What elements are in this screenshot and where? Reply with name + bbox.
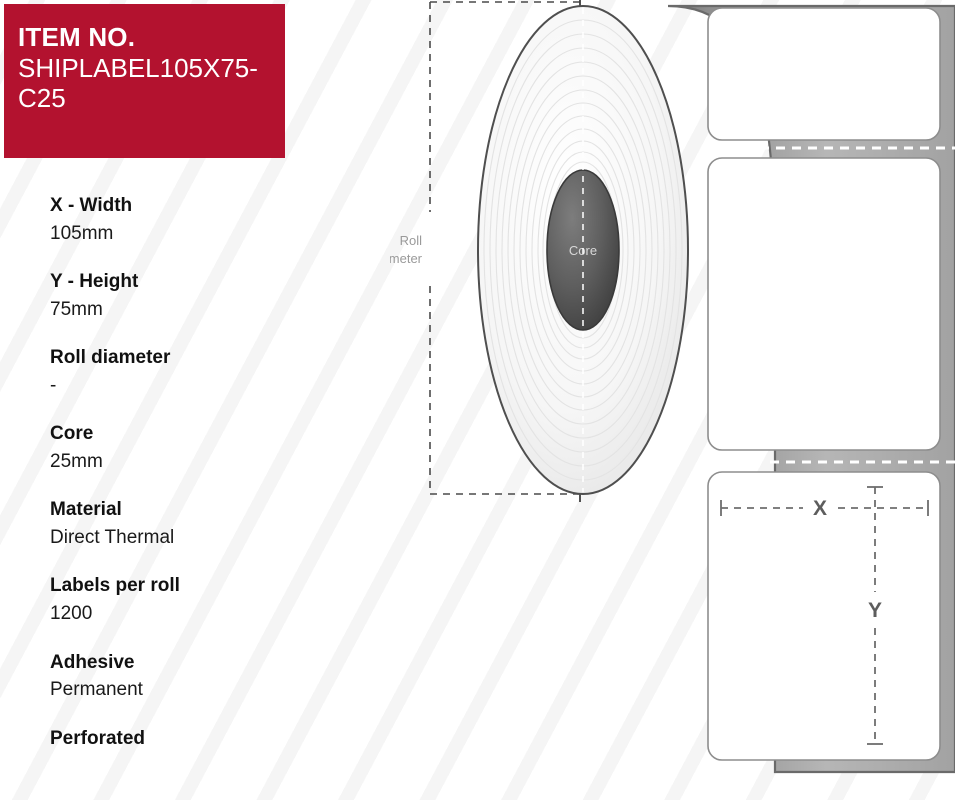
item-number-value: SHIPLABEL105X75-C25 [18,53,271,114]
spec-label: Labels per roll [50,572,300,600]
height-marker-label: Y [868,599,882,622]
spec-row-height: Y - Height 75mm [50,268,300,323]
spec-label: Core [50,420,300,448]
spec-label: Perforated [50,725,300,753]
label-top [708,8,940,140]
spec-label: Adhesive [50,649,300,677]
spec-row-roll-diameter: Roll diameter - [50,344,300,399]
roll-diameter-label-2: diameter [390,251,423,266]
specification-list: X - Width 105mm Y - Height 75mm Roll dia… [50,192,300,773]
spec-row-adhesive: Adhesive Permanent [50,649,300,704]
product-spec-sheet: ITEM NO. SHIPLABEL105X75-C25 X - Width 1… [0,0,955,800]
width-marker-label: X [813,497,827,520]
spec-row-labels-per-roll: Labels per roll 1200 [50,572,300,627]
spec-value: Direct Thermal [50,524,300,552]
spec-label: Y - Height [50,268,300,296]
spec-row-perforated: Perforated [50,725,300,753]
spec-row-width: X - Width 105mm [50,192,300,247]
spec-value: - [50,372,300,400]
item-number-caption: ITEM NO. [18,22,271,53]
spec-value: 105mm [50,220,300,248]
item-number-banner: ITEM NO. SHIPLABEL105X75-C25 [4,4,285,158]
spec-label: X - Width [50,192,300,220]
spec-row-material: Material Direct Thermal [50,496,300,551]
spec-value: 75mm [50,296,300,324]
spec-label: Roll diameter [50,344,300,372]
label-roll-illustration: Roll diameter [390,0,955,800]
spec-value: 1200 [50,600,300,628]
spec-label: Material [50,496,300,524]
spec-row-core: Core 25mm [50,420,300,475]
label-middle [708,158,940,450]
spec-value: Permanent [50,676,300,704]
roll-diameter-label: Roll [400,233,423,248]
spec-value: 25mm [50,448,300,476]
